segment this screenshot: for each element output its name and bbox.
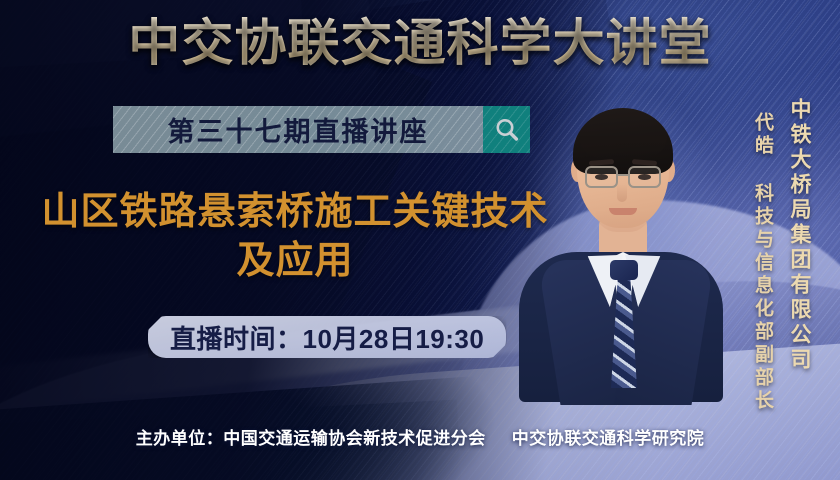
footer-org-2: 中交协联交通科学研究院: [512, 424, 705, 449]
search-icon-box[interactable]: [483, 106, 530, 153]
session-badge: 第三十七期直播讲座: [113, 106, 483, 153]
portrait-glasses-right-lens: [628, 166, 661, 188]
portrait-hair-fringe: [579, 136, 667, 158]
speaker-organization: 中铁大桥局集团有限公司: [784, 98, 814, 373]
portrait-glasses-bridge: [618, 174, 628, 176]
topic-title-line-2: 及应用: [30, 237, 560, 286]
live-time-badge: 直播时间：10月28日19:30: [148, 316, 506, 358]
live-lecture-poster: 中交协联交通科学大讲堂 中交协联交通科学大讲堂 第三十七期直播讲座 山区铁路悬索…: [0, 0, 840, 480]
session-badge-label: 第三十七期直播讲座: [168, 110, 429, 149]
portrait-tie-knot: [610, 260, 638, 280]
portrait-glasses-left-lens: [585, 166, 618, 188]
speaker-credit: 代皓 科技与信息化部副部长: [749, 112, 776, 413]
portrait-nose: [617, 184, 627, 202]
main-title: 中交协联交通科学大讲堂: [0, 12, 840, 74]
search-icon: [493, 116, 521, 144]
portrait-mouth: [609, 208, 637, 215]
footer-org-1: 中国交通运输协会新技术促进分会: [223, 424, 486, 449]
live-time-text: 直播时间：10月28日19:30: [170, 319, 484, 356]
topic-title: 山区铁路悬索桥施工关键技术 及应用: [30, 188, 560, 286]
topic-title-line-1: 山区铁路悬索桥施工关键技术: [30, 188, 560, 237]
footer-prefix: 主办单位：: [136, 424, 224, 449]
footer-organizers: 主办单位：中国交通运输协会新技术促进分会中交协联交通科学研究院: [0, 424, 840, 449]
